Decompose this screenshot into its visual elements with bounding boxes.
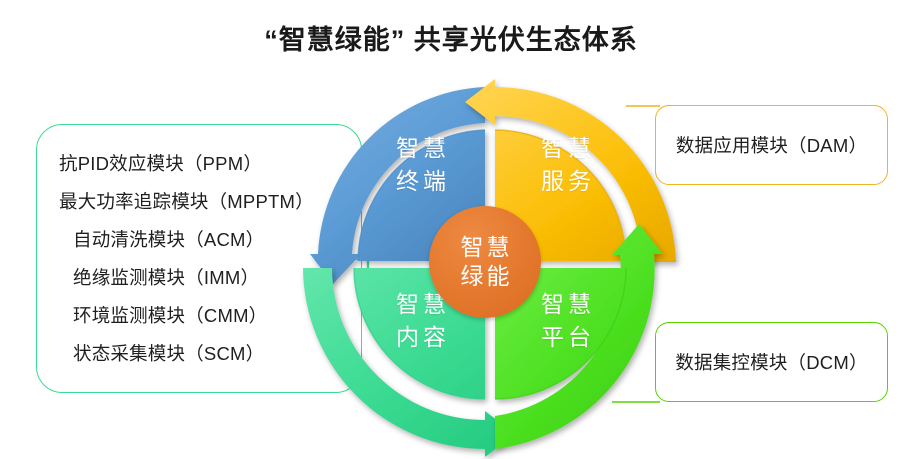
center-hub[interactable]: 智慧 绿能 [429,206,541,318]
quadrant-label-line2: 内容 [366,321,476,354]
quadrant-label-line2: 服务 [511,165,621,198]
right-panel-data-control: 数据集控模块（DCM） [655,322,888,402]
quadrant-label-line1: 智慧 [366,132,476,165]
quadrant-label-line2: 终端 [366,165,476,198]
right-panel-data-application: 数据应用模块（DAM） [655,105,888,185]
right-panel-bottom-label: 数据集控模块（DCM） [656,323,887,401]
quadrant-label-terminal: 智慧 终端 [366,132,476,198]
quadrant-label-line2: 平台 [511,321,621,354]
center-hub-line1: 智慧 [458,233,513,262]
center-hub-line2: 绿能 [458,262,513,291]
quadrant-label-service: 智慧 服务 [511,132,621,198]
quadrant-label-line1: 智慧 [511,132,621,165]
right-panel-top-label: 数据应用模块（DAM） [656,106,887,184]
page-title: “智慧绿能” 共享光伏生态体系 [0,18,902,57]
